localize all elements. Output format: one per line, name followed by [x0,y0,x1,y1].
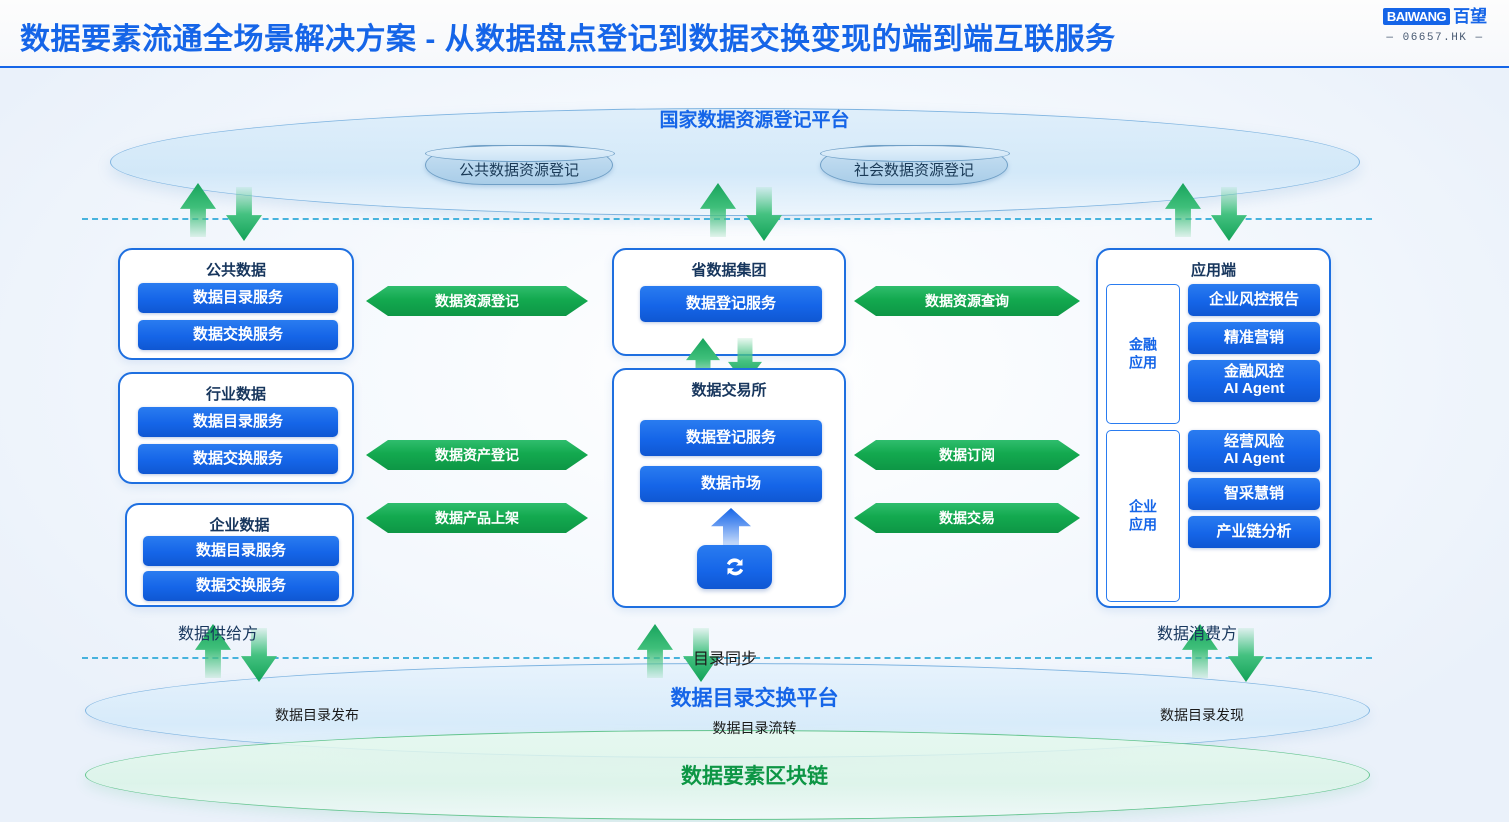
label-catalog-publish: 数据目录发布 [275,705,359,725]
pill-exchange-service[interactable]: 数据交换服务 [143,571,339,601]
card-title: 行业数据 [120,383,352,404]
header-bar: 数据要素流通全场景解决方案 - 从数据盘点登记到数据交换变现的端到端互联服务 B… [0,0,1509,68]
subcard-finance-apps[interactable]: 金融应用 [1106,284,1180,424]
pill-data-market[interactable]: 数据市场 [640,466,822,502]
card-title: 公共数据 [120,259,352,280]
cylinder-social-data-registry[interactable]: 社会数据资源登记 [820,145,1008,185]
subcard-enterprise-apps[interactable]: 企业应用 [1106,430,1180,602]
pill-catalog-service[interactable]: 数据目录服务 [138,407,338,437]
subcard-label: 金融应用 [1107,337,1179,372]
pill-financial-risk-ai-agent[interactable]: 金融风控AI Agent [1188,360,1320,402]
logo-chinese-text: 百望 [1453,8,1487,25]
flow-arrow-data-product-listing[interactable]: 数据产品上架 [366,503,588,533]
arrow-down-icon [226,187,262,241]
pill-registration-service[interactable]: 数据登记服务 [640,420,822,456]
pill-catalog-service[interactable]: 数据目录服务 [138,283,338,313]
cylinder-label: 社会数据资源登记 [821,159,1007,180]
label-catalog-discover: 数据目录发现 [1160,705,1244,725]
arrow-pair-top-right [1165,183,1255,243]
flow-arrow-data-transaction[interactable]: 数据交易 [854,503,1080,533]
arrow-up-icon [1165,183,1201,237]
arrow-pair-top-center [700,183,790,243]
cylinder-public-data-registry[interactable]: 公共数据资源登记 [425,145,613,185]
flow-arrow-data-resource-query[interactable]: 数据资源查询 [854,286,1080,316]
arrow-up-icon [637,624,673,678]
flow-arrow-data-resource-registration[interactable]: 数据资源登记 [366,286,588,316]
card-enterprise-data[interactable]: 企业数据 数据目录服务 数据交换服务 [125,503,354,607]
pill-precision-marketing[interactable]: 精准营销 [1188,322,1320,354]
label-data-consumer: 数据消费方 [1157,620,1237,644]
pill-enterprise-risk-report[interactable]: 企业风控报告 [1188,284,1320,316]
pill-operational-risk-ai-agent[interactable]: 经营风险AI Agent [1188,430,1320,472]
card-industry-data[interactable]: 行业数据 数据目录服务 数据交换服务 [118,372,354,484]
arrow-pair-top-left [180,183,270,243]
page-title: 数据要素流通全场景解决方案 - 从数据盘点登记到数据交换变现的端到端互联服务 [20,14,1116,58]
slide-canvas: 数据要素流通全场景解决方案 - 从数据盘点登记到数据交换变现的端到端互联服务 B… [0,0,1509,822]
flow-arrow-data-asset-registration[interactable]: 数据资产登记 [366,440,588,470]
cylinder-label: 公共数据资源登记 [426,159,612,180]
arrow-down-icon [1211,187,1247,241]
card-application-side[interactable]: 应用端 金融应用 企业应用 企业风控报告 精准营销 金融风控AI Agent 经… [1096,248,1331,608]
subcard-label: 企业应用 [1107,499,1179,534]
label-data-supplier: 数据供给方 [178,620,258,644]
arrow-down-icon [746,187,782,241]
label-data-element-blockchain: 数据要素区块链 [0,760,1509,790]
pill-industry-chain-analysis[interactable]: 产业链分析 [1188,516,1320,548]
card-title: 应用端 [1098,259,1329,280]
logo-ticker: — 06657.HK — [1375,32,1495,44]
card-title: 省数据集团 [614,259,844,280]
flow-arrow-data-subscription[interactable]: 数据订阅 [854,440,1080,470]
arrow-up-icon [180,183,216,237]
sync-icon-button[interactable] [697,545,772,589]
card-public-data[interactable]: 公共数据 数据目录服务 数据交换服务 [118,248,354,360]
arrow-up-icon [700,183,736,237]
card-title: 企业数据 [127,514,352,535]
logo-badge-text: BAIWANG [1383,8,1450,25]
pill-catalog-service[interactable]: 数据目录服务 [143,536,339,566]
brand-logo: BAIWANG 百望 — 06657.HK — [1375,8,1495,44]
pill-registration-service[interactable]: 数据登记服务 [640,286,822,322]
national-registry-title: 国家数据资源登记平台 [0,105,1509,132]
pill-exchange-service[interactable]: 数据交换服务 [138,320,338,350]
pill-smart-procurement-sales[interactable]: 智采慧销 [1188,478,1320,510]
pill-exchange-service[interactable]: 数据交换服务 [138,444,338,474]
sync-icon [718,552,752,582]
label-catalog-sync: 目录同步 [693,645,757,669]
label-catalog-flow: 数据目录流转 [0,718,1509,738]
label-catalog-exchange-platform: 数据目录交换平台 [0,682,1509,712]
card-title: 数据交易所 [614,379,844,400]
